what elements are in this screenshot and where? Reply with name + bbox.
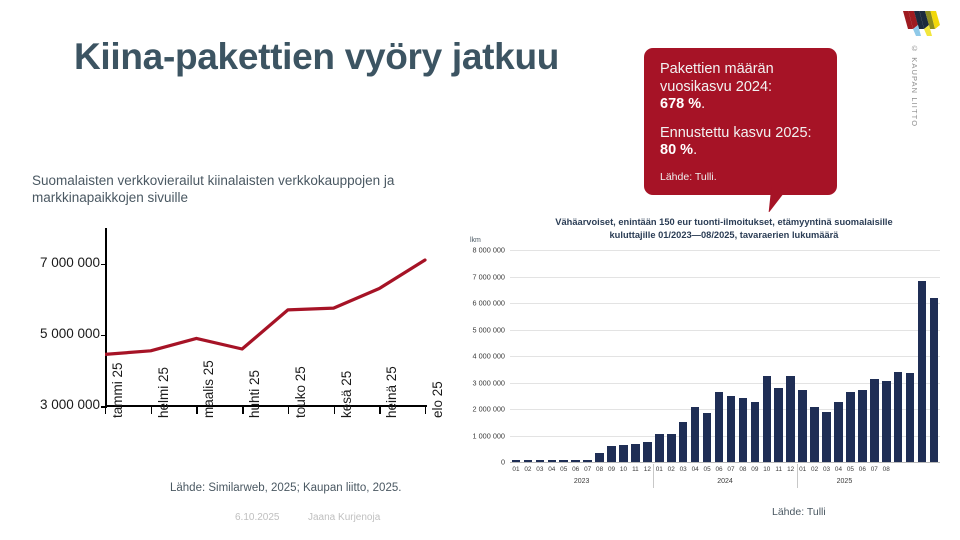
- bar-chart-source: Lähde: Tulli: [772, 506, 826, 518]
- bar-chart-bar: [595, 453, 604, 462]
- bar-chart-y-tick-label: 2 000 000: [462, 405, 505, 414]
- bar-chart-year-separator: [797, 464, 798, 488]
- line-chart-x-tick: [242, 407, 243, 414]
- bar-chart-bar: [918, 281, 927, 462]
- bar-chart-bar: [822, 412, 831, 462]
- bar-chart-bar: [643, 442, 652, 462]
- line-chart-y-tick-label: 3 000 000: [20, 397, 100, 412]
- bar-chart: Vähäarvoiset, enintään 150 eur tuonti-il…: [462, 212, 948, 502]
- line-chart-source: Lähde: Similarweb, 2025; Kaupan liitto, …: [170, 482, 401, 494]
- callout-spacer: [660, 114, 821, 125]
- bar-chart-y-tick-label: 5 000 000: [462, 325, 505, 334]
- line-chart-x-tick: [196, 407, 197, 414]
- bar-chart-bar: [691, 407, 700, 462]
- line-chart-subtitle: Suomalaisten verkkovierailut kiinalaiste…: [32, 172, 452, 206]
- callout-value-1-suffix: .: [701, 96, 705, 112]
- bar-chart-title-line-2: kuluttajille 01/2023—08/2025, tavaraerie…: [514, 229, 934, 242]
- callout-value-2-row: 80 %.: [660, 142, 821, 160]
- bar-chart-bar: [536, 460, 545, 462]
- line-chart-y-tick-label: 5 000 000: [20, 326, 100, 341]
- bar-chart-bar: [834, 402, 843, 462]
- callout-line-3: Ennustettu kasvu 2025:: [660, 125, 821, 143]
- bar-chart-bar: [667, 434, 676, 462]
- callout-source: Lähde: Tulli.: [660, 171, 821, 183]
- brand-logo: © KAUPAN LIITTO: [894, 8, 952, 128]
- bar-chart-bar: [894, 372, 903, 462]
- bar-chart-y-tick-label: 4 000 000: [462, 352, 505, 361]
- bar-chart-bar: [524, 460, 533, 462]
- footer-date: 6.10.2025: [235, 512, 280, 523]
- bar-chart-title-line-1: Vähäarvoiset, enintään 150 eur tuonti-il…: [514, 216, 934, 229]
- line-chart-x-tick: [379, 407, 380, 414]
- bar-chart-bar: [571, 460, 580, 462]
- bar-chart-bar: [631, 444, 640, 462]
- statistics-callout: Pakettien määrän vuosikasvu 2024: 678 %.…: [644, 48, 837, 195]
- line-chart-y-tick-label: 7 000 000: [20, 255, 100, 270]
- callout-line-1: Pakettien määrän: [660, 61, 821, 79]
- bar-chart-y-tick-label: 7 000 000: [462, 272, 505, 281]
- line-chart-x-tick: [288, 407, 289, 414]
- bar-chart-bar: [655, 434, 664, 462]
- footer-author: Jaana Kurjenoja: [308, 512, 380, 523]
- bar-chart-bar: [739, 398, 748, 462]
- bar-chart-gridline: [510, 330, 940, 331]
- bar-chart-plot-area: 01 000 0002 000 0003 000 0004 000 0005 0…: [510, 250, 940, 462]
- callout-line-2: vuosikasvu 2024:: [660, 79, 821, 97]
- bar-chart-bar: [512, 460, 521, 462]
- callout-value-1-row: 678 %.: [660, 96, 821, 114]
- bar-chart-bar: [703, 413, 712, 462]
- bar-chart-x-tick-label: 08: [878, 466, 894, 473]
- bar-chart-bar: [619, 445, 628, 462]
- bar-chart-bar: [810, 407, 819, 462]
- line-chart-x-tick: [151, 407, 152, 414]
- bar-chart-bar: [798, 390, 807, 462]
- callout-pointer: [769, 186, 800, 213]
- logo-copyright: © KAUPAN LIITTO: [910, 44, 919, 127]
- line-chart-x-tick-label: elo 25: [430, 381, 445, 418]
- bar-chart-title: Vähäarvoiset, enintään 150 eur tuonti-il…: [514, 216, 934, 242]
- bar-chart-unit-label: lkm: [470, 237, 481, 244]
- callout-value-2-suffix: .: [693, 142, 697, 158]
- bar-chart-year-separator: [653, 464, 654, 488]
- bar-chart-year-label: 2023: [552, 478, 612, 485]
- bar-chart-gridline: [510, 250, 940, 251]
- bar-chart-y-tick-label: 0: [462, 458, 505, 467]
- bar-chart-year-label: 2024: [695, 478, 755, 485]
- bar-chart-bar: [930, 298, 939, 462]
- bar-chart-bar: [763, 376, 772, 462]
- bar-chart-y-tick-label: 8 000 000: [462, 246, 505, 255]
- line-chart-series: [105, 228, 427, 406]
- line-chart: Suomalaisten verkkovierailut kiinalaiste…: [20, 172, 460, 512]
- bar-chart-bar: [559, 460, 568, 462]
- bar-chart-y-tick-label: 6 000 000: [462, 299, 505, 308]
- kaupan-liitto-logo-icon: [902, 8, 944, 38]
- page-title: Kiina-pakettien vyöry jatkuu: [74, 36, 559, 78]
- bar-chart-bar: [906, 373, 915, 462]
- bar-chart-bar: [882, 381, 891, 462]
- bar-chart-gridline: [510, 303, 940, 304]
- bar-chart-bar: [774, 388, 783, 462]
- bar-chart-y-tick-label: 1 000 000: [462, 431, 505, 440]
- bar-chart-bar: [786, 376, 795, 462]
- bar-chart-y-tick-label: 3 000 000: [462, 378, 505, 387]
- bar-chart-bar: [858, 390, 867, 462]
- line-chart-x-tick: [334, 407, 335, 414]
- bar-chart-bar: [751, 402, 760, 462]
- bar-chart-gridline: [510, 277, 940, 278]
- bar-chart-bar: [607, 446, 616, 462]
- bar-chart-bar: [583, 460, 592, 462]
- bar-chart-bar: [846, 392, 855, 462]
- bar-chart-bar: [679, 422, 688, 462]
- line-chart-x-tick: [425, 407, 426, 414]
- bar-chart-year-label: 2025: [814, 478, 874, 485]
- line-chart-x-tick: [105, 407, 106, 414]
- bar-chart-gridline: [510, 462, 940, 463]
- bar-chart-bar: [715, 392, 724, 462]
- bar-chart-bar: [727, 396, 736, 462]
- bar-chart-gridline: [510, 356, 940, 357]
- callout-value-1: 678 %: [660, 96, 701, 112]
- bar-chart-bar: [548, 460, 557, 462]
- bar-chart-bar: [870, 379, 879, 462]
- callout-value-2: 80 %: [660, 142, 693, 158]
